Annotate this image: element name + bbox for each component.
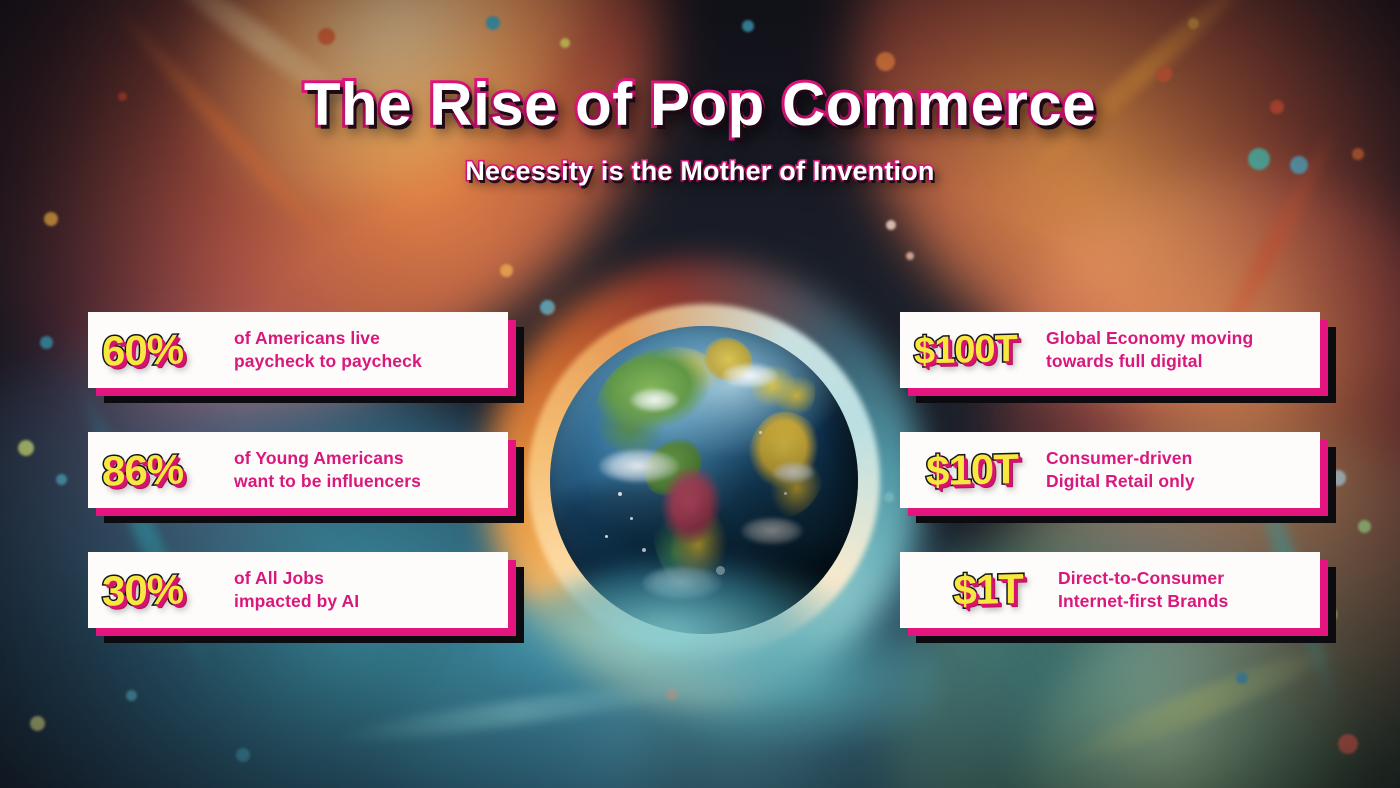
paint-dot [500, 264, 513, 277]
globe-cloud [599, 449, 679, 483]
paint-dot [486, 16, 500, 30]
globe-cloud [741, 517, 803, 545]
card-face: 86% of Young Americans want to be influe… [88, 432, 508, 508]
card-face: $10T Consumer-driven Digital Retail only [900, 432, 1320, 508]
stat-description-line: of Young Americans [234, 447, 421, 470]
stat-value: $10T [914, 447, 1040, 492]
stat-value: $1T [914, 567, 1040, 612]
stat-description-line: want to be influencers [234, 470, 421, 493]
page-subtitle: Necessity is the Mother of Invention [0, 156, 1400, 187]
paint-dot [236, 748, 250, 762]
card-face: $1T Direct-to-Consumer Internet-first Br… [900, 552, 1320, 628]
stat-description-line: Direct-to-Consumer [1058, 567, 1228, 590]
globe-cloud [722, 363, 777, 388]
paint-dot [1236, 672, 1248, 684]
paint-dot [560, 38, 570, 48]
paint-dot [876, 52, 895, 71]
stat-card[interactable]: $100T Global Economy moving towards full… [900, 312, 1320, 388]
paint-dot [18, 440, 34, 456]
card-face: 30% of All Jobs impacted by AI [88, 552, 508, 628]
stat-description-line: Global Economy moving [1046, 327, 1253, 350]
paint-dot [742, 20, 754, 32]
stat-description: of Americans live paycheck to paycheck [228, 327, 422, 373]
stat-card[interactable]: 60% of Americans live paycheck to payche… [88, 312, 508, 388]
stat-description: Global Economy moving towards full digit… [1040, 327, 1253, 373]
stat-description-line: of All Jobs [234, 567, 359, 590]
stat-description-line: towards full digital [1046, 350, 1253, 373]
stat-description: Direct-to-Consumer Internet-first Brands [1040, 567, 1228, 613]
paint-dot [318, 28, 335, 45]
stat-card[interactable]: 86% of Young Americans want to be influe… [88, 432, 508, 508]
globe-cloud [772, 462, 815, 484]
paint-dot [1188, 18, 1199, 29]
stat-value: 30% [102, 567, 228, 612]
stat-description-line: paycheck to paycheck [234, 350, 422, 373]
stat-value: 60% [102, 327, 228, 372]
paint-dot [886, 220, 896, 230]
stat-card[interactable]: $1T Direct-to-Consumer Internet-first Br… [900, 552, 1320, 628]
paint-dot [906, 252, 914, 260]
paint-dot [1338, 734, 1358, 754]
stat-value: 86% [102, 447, 228, 492]
paint-dot [44, 212, 58, 226]
card-face: $100T Global Economy moving towards full… [900, 312, 1320, 388]
stat-description: of All Jobs impacted by AI [228, 567, 359, 613]
paint-dot [30, 716, 45, 731]
page-title: The Rise of Pop Commerce [0, 74, 1400, 136]
stat-description-line: Internet-first Brands [1058, 590, 1228, 613]
stat-column-right: $100T Global Economy moving towards full… [900, 312, 1320, 628]
stat-description-line: Digital Retail only [1046, 470, 1195, 493]
stat-card[interactable]: 30% of All Jobs impacted by AI [88, 552, 508, 628]
stat-description: of Young Americans want to be influencer… [228, 447, 421, 493]
paint-wave-foreground [470, 560, 940, 788]
stat-column-left: 60% of Americans live paycheck to payche… [88, 312, 508, 628]
stat-card[interactable]: $10T Consumer-driven Digital Retail only [900, 432, 1320, 508]
infographic-canvas: The Rise of Pop Commerce Necessity is th… [0, 0, 1400, 788]
stat-description-line: of Americans live [234, 327, 422, 350]
paint-dot [1358, 520, 1371, 533]
header: The Rise of Pop Commerce Necessity is th… [0, 74, 1400, 187]
stat-value: $100T [914, 329, 1040, 370]
stat-description: Consumer-driven Digital Retail only [1040, 447, 1195, 493]
paint-dot [40, 336, 53, 349]
stat-description-line: Consumer-driven [1046, 447, 1195, 470]
stat-description-line: impacted by AI [234, 590, 359, 613]
paint-dot [126, 690, 137, 701]
card-face: 60% of Americans live paycheck to payche… [88, 312, 508, 388]
paint-dot [56, 474, 67, 485]
